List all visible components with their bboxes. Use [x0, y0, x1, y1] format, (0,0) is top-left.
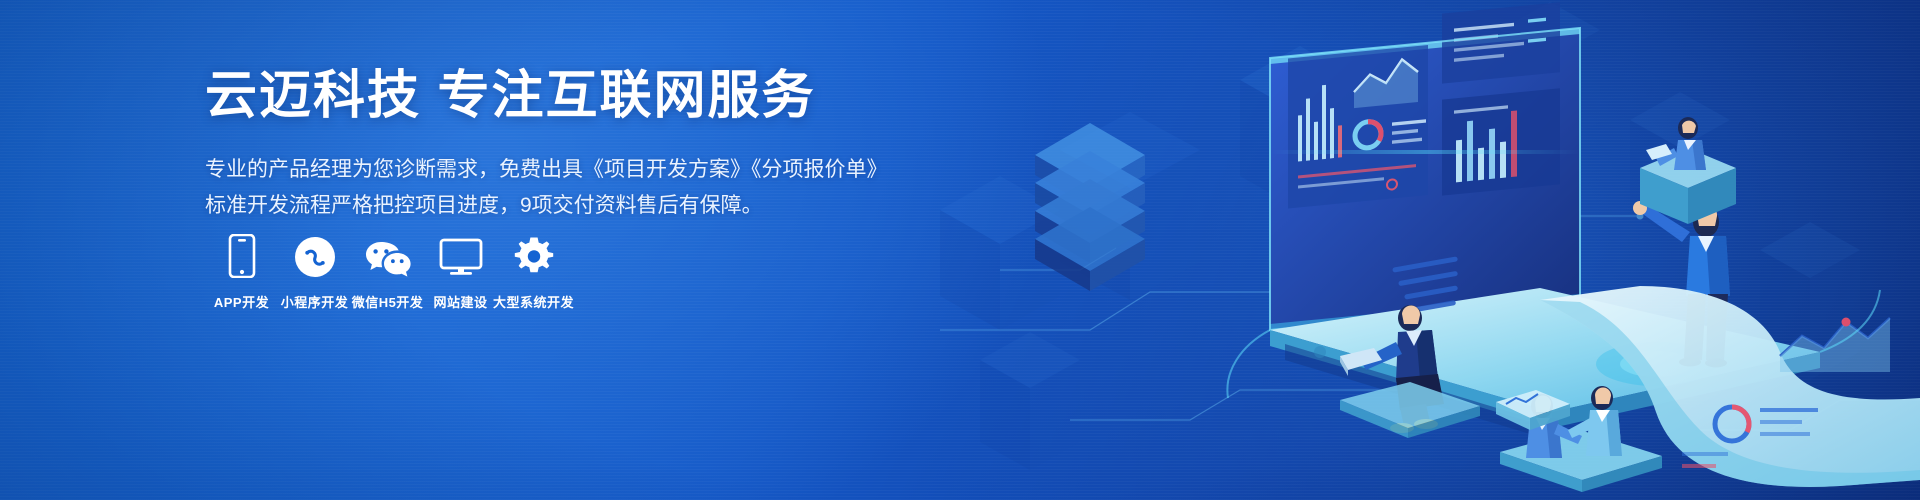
hero-banner: 云迈科技 专注互联网服务 专业的产品经理为您诊断需求，免费出具《项目开发方案》《… — [0, 0, 1920, 500]
service-item-app[interactable]: APP开发 — [205, 232, 278, 311]
page-title: 云迈科技 专注互联网服务 — [205, 66, 965, 127]
service-label: 小程序开发 — [281, 292, 349, 311]
service-list: APP开发 小程序开发 — [205, 232, 570, 311]
subtitle-line-2: 标准开发流程严格把控项目进度，9项交付资料售后有保障。 — [205, 189, 965, 223]
service-label: 微信H5开发 — [352, 292, 424, 311]
monitor-icon — [439, 232, 483, 278]
service-label: 网站建设 — [433, 292, 487, 311]
banner-copy: 云迈科技 专注互联网服务 专业的产品经理为您诊断需求，免费出具《项目开发方案》《… — [205, 66, 965, 223]
mobile-phone-icon — [227, 232, 257, 278]
service-item-website[interactable]: 网站建设 — [424, 232, 497, 311]
wechat-icon — [364, 232, 412, 278]
mini-program-icon — [294, 232, 336, 278]
service-item-mini-program[interactable]: 小程序开发 — [278, 232, 351, 311]
service-item-wechat-h5[interactable]: 微信H5开发 — [351, 232, 424, 311]
server-stack — [1035, 123, 1145, 291]
gear-icon — [513, 232, 555, 278]
subtitle-line-1: 专业的产品经理为您诊断需求，免费出具《项目开发方案》《分项报价单》 — [205, 153, 965, 187]
service-label: 大型系统开发 — [493, 292, 574, 311]
isometric-tech-illustration — [940, 0, 1920, 500]
service-label: APP开发 — [214, 292, 269, 311]
service-item-large-system[interactable]: 大型系统开发 — [497, 232, 570, 311]
